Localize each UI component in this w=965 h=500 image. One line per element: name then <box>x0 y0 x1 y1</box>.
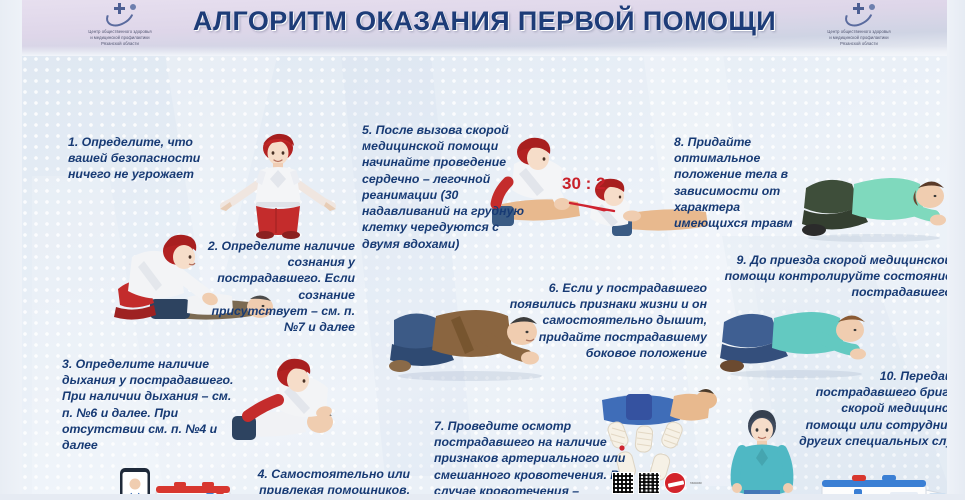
poster: Центр общественного здоровья и медицинск… <box>0 0 965 500</box>
illustration-optimal-position <box>802 164 947 244</box>
step-8-text: 8. Придайте оптимальное положение тела в… <box>674 134 804 231</box>
step-7-text: 7. Проведите осмотр пострадавшего на нал… <box>434 418 634 494</box>
red-stamp-badge-icon <box>664 472 686 494</box>
logo-right: Центр общественного здоровья и медицинск… <box>799 3 919 53</box>
step-5-text: 5. После вызова скорой медицинской помощ… <box>362 122 540 252</box>
step-3-text: 3. Определите наличие дыхания у пострада… <box>62 356 242 453</box>
illustration-check-breathing <box>232 356 367 456</box>
poster-frame-right <box>947 0 965 500</box>
step-6-text: 6. Если у пострадавшего появились призна… <box>502 280 707 361</box>
logo-right-line3: Рязанской области <box>800 41 918 47</box>
poster-body: 1. Определите, что вашей безопасности ни… <box>22 56 947 494</box>
qr-code-1-icon[interactable] <box>612 472 634 494</box>
poster-frame-bottom <box>0 494 965 500</box>
poster-header: Центр общественного здоровья и медицинск… <box>22 0 947 56</box>
qr-code-2-icon[interactable] <box>638 472 660 494</box>
step-1-text: 1. Определите, что вашей безопасности ни… <box>68 134 218 183</box>
illustration-ambulance <box>812 464 947 494</box>
step-9-text: 9. До приезда скорой медицинской помощи … <box>716 252 947 301</box>
cpr-ratio-label: 30 : 2 <box>562 174 605 194</box>
step-4-text: 4. Самостоятельно или привлекая помощник… <box>220 466 410 494</box>
step-2-text: 2. Определите наличие сознания у пострад… <box>200 238 355 335</box>
poster-frame-left <box>0 0 22 500</box>
health-center-logo-icon-right <box>844 3 874 27</box>
badge-note-text: такском <box>690 481 748 485</box>
illustration-call-ambulance <box>118 464 233 494</box>
red-arrow-icon <box>570 202 616 212</box>
step-10-text: 10. Передайте пострадавшего бригаде скор… <box>792 368 947 449</box>
footer-badges: такском <box>612 470 792 496</box>
logo-left-line3: Рязанской области <box>61 41 179 47</box>
logo-right-text: Центр общественного здоровья и медицинск… <box>800 29 918 47</box>
